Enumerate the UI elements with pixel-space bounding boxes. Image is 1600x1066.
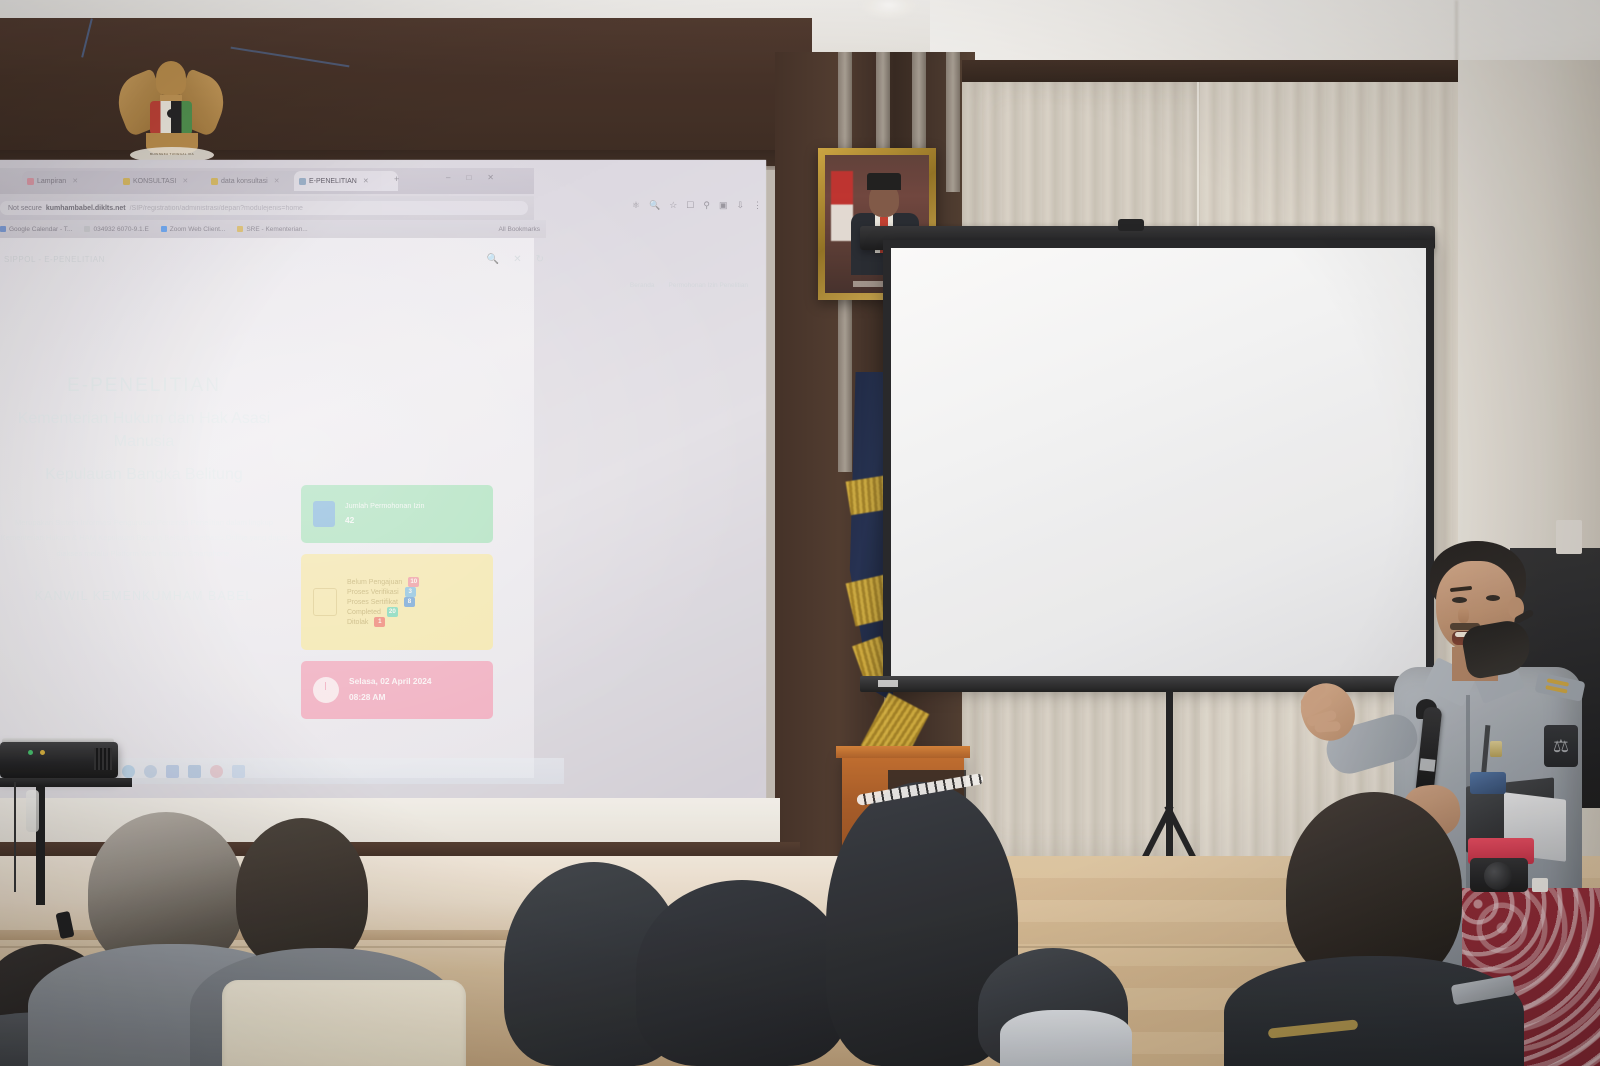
tab-favicon-icon: [299, 178, 306, 185]
status-row-4: Ditolak 1: [347, 617, 419, 627]
small-white-object: [1532, 878, 1548, 892]
tab-close-icon[interactable]: ✕: [274, 177, 280, 185]
bookmark-2[interactable]: Zoom Web Client...: [161, 226, 226, 233]
window-controls[interactable]: – □ ✕: [446, 173, 494, 182]
extensions-icon[interactable]: ⚲: [703, 200, 710, 211]
all-bookmarks-label: All Bookmarks: [498, 226, 540, 233]
status-label: Ditolak: [347, 619, 368, 626]
bookmark-label: Google Calendar - T...: [9, 226, 72, 233]
translate-icon[interactable]: ⚛: [632, 200, 640, 211]
bookmark-label: SRE - Kementerian...: [246, 226, 307, 233]
wall-plate: [1556, 520, 1582, 554]
browser-tab-3-active[interactable]: E-PENELITIAN ✕: [294, 171, 398, 191]
breadcrumb-item-1[interactable]: Permohonan Izin Penelitian: [669, 282, 749, 289]
document-icon: [313, 501, 335, 527]
tab-favicon-icon: [27, 178, 34, 185]
presenter-eye-right: [1486, 595, 1500, 601]
app-icon[interactable]: [232, 765, 245, 778]
hero-description: Merupakan Sistem Informasi Pengurusan Pe…: [0, 515, 294, 562]
close-window-icon[interactable]: ✕: [487, 173, 494, 182]
breadcrumb-item-0[interactable]: Beranda: [630, 282, 655, 289]
indonesia-flag-backdrop: [831, 171, 853, 241]
tab-close-icon[interactable]: ✕: [72, 177, 78, 185]
browser-toolbar-icons[interactable]: ⚛ 🔍 ☆ ☐ ⚲ ▣ ⇩ ⋮: [632, 200, 762, 211]
status-count: 20: [387, 607, 398, 617]
tab-label: E-PENELITIAN: [309, 178, 357, 185]
bookmark-3[interactable]: SRE - Kementerian...: [237, 226, 307, 233]
bookmark-favicon-icon: [0, 226, 6, 232]
outlook-icon[interactable]: [188, 765, 201, 778]
browser-address-bar: Not secure kumhambabel.diklts.net /SIP/r…: [0, 196, 534, 220]
tab-label: Lampiran: [37, 178, 66, 185]
wall-trim-strip-4: [946, 52, 960, 192]
camera-lens-icon: [1484, 862, 1512, 890]
status-count: 10: [408, 577, 419, 587]
hero-title: E-PENELITIAN: [0, 375, 294, 397]
bookmark-label: Zoom Web Client...: [170, 226, 226, 233]
share-icon[interactable]: ▣: [719, 200, 728, 211]
all-bookmarks-button[interactable]: All Bookmarks: [495, 226, 540, 233]
peci-cap-icon: [867, 173, 901, 190]
clipboard-icon: [313, 588, 337, 616]
tab-close-icon[interactable]: ✕: [182, 177, 188, 185]
ministry-shoulder-patch: ⚖: [1544, 725, 1578, 767]
status-row-2: Proses Sertifikat 8: [347, 597, 419, 607]
page-search-icon[interactable]: 🔍: [487, 254, 499, 265]
menu-icon[interactable]: ⋮: [753, 200, 762, 211]
bookmark-1[interactable]: 034932 6070-9.1.E: [84, 226, 148, 233]
audience-shoulders-7: [1224, 956, 1524, 1066]
tripod-projection-screen: [883, 240, 1434, 685]
monitor-screen: [1470, 772, 1506, 794]
address-path: /SIP/registration/administrasi/depan?mod…: [130, 205, 303, 212]
blind-top-beam: [962, 60, 1462, 82]
site-navbar: SIPPOL - E-PENELITIAN 🔍 ✕ ↻: [0, 248, 554, 270]
status-count: 8: [404, 597, 415, 607]
dashboard-cards: Jumlah Permohonan Izin 42 Belum Pengajua…: [301, 485, 493, 730]
photo-scene: BHINNEKA TUNGGAL IKA Lampiran ✕ KONSULTA…: [0, 0, 1600, 1066]
new-tab-button[interactable]: +: [394, 174, 399, 184]
presenter-eye-left: [1452, 597, 1467, 603]
card-clock[interactable]: Selasa, 02 April 2024 08:28 AM: [301, 661, 493, 719]
tab-label: KONSULTASI: [133, 178, 176, 185]
media-icon[interactable]: [210, 765, 223, 778]
hero-subtitle-line2: Kepulauan Bangka Belitung: [0, 463, 294, 486]
star-icon[interactable]: ☆: [669, 200, 677, 211]
edge-icon[interactable]: [122, 765, 135, 778]
clock-date: Selasa, 02 April 2024: [349, 674, 432, 690]
address-input[interactable]: Not secure kumhambabel.diklts.net /SIP/r…: [0, 201, 528, 215]
audience-shoulders-6: [1000, 1010, 1132, 1066]
projected-slide-surface: Lampiran ✕ KONSULTASI ✕ data konsultasi …: [0, 160, 766, 805]
projector-status-led-icon: [40, 750, 45, 755]
maximize-icon[interactable]: □: [466, 173, 471, 182]
card-text: Selasa, 02 April 2024 08:28 AM: [349, 674, 432, 706]
card-permohonan-izin[interactable]: Jumlah Permohonan Izin 42: [301, 485, 493, 543]
presenter-nose: [1458, 607, 1469, 623]
word-icon[interactable]: [166, 765, 179, 778]
clock-time: 08:28 AM: [349, 690, 432, 706]
status-label: Belum Pengajuan: [347, 579, 402, 586]
download-icon[interactable]: ⇩: [736, 200, 744, 211]
status-row-0: Belum Pengajuan 10: [347, 577, 419, 587]
browser-tab-0[interactable]: Lampiran ✕: [22, 171, 124, 191]
audience-head-2: [236, 818, 368, 970]
patch-emblem-icon: ⚖: [1553, 736, 1569, 757]
reading-list-icon[interactable]: ☐: [686, 200, 694, 211]
hero-subtitle-line1: Kementerian Hukum dan Hak Asasi Manusia: [0, 407, 294, 453]
clock-icon: [313, 677, 339, 703]
tab-favicon-icon: [123, 178, 130, 185]
status-count: 3: [405, 587, 416, 597]
card-text: Jumlah Permohonan Izin 42: [345, 499, 425, 529]
card-status-list[interactable]: Belum Pengajuan 10 Proses Verifikasi 3 P…: [301, 554, 493, 650]
status-rows: Belum Pengajuan 10 Proses Verifikasi 3 P…: [347, 577, 419, 627]
bookmarks-bar: Google Calendar - T... 034932 6070-9.1.E…: [0, 220, 546, 238]
screen-latch-icon[interactable]: [1118, 219, 1144, 231]
card-title: Jumlah Permohonan Izin: [345, 501, 425, 510]
audience-hijab-4: [636, 880, 848, 1066]
address-host: kumhambabel.diklts.net: [46, 205, 126, 212]
uniform-name-tag: [1490, 741, 1502, 757]
microphone-band: [1419, 758, 1435, 772]
status-label: Completed: [347, 609, 381, 616]
card-value: 42: [345, 513, 425, 529]
projector-vent: [94, 748, 112, 770]
screen-surface: [891, 248, 1426, 677]
podium-top: [836, 746, 970, 758]
bookmark-label: 034932 6070-9.1.E: [93, 226, 148, 233]
link-icon[interactable]: [144, 765, 157, 778]
projector-power-led-icon: [28, 750, 33, 755]
garuda-pancasila-emblem: BHINNEKA TUNGGAL IKA: [112, 55, 230, 163]
tab-favicon-icon: [211, 178, 218, 185]
projector-shelf: [0, 778, 132, 787]
audience-chair: [222, 980, 466, 1066]
projector-cable: [14, 782, 16, 892]
projector-hanging-tag: [26, 790, 39, 832]
bookmark-favicon-icon: [84, 226, 90, 232]
hero-organization: KANWIL KEMENKUMHAM BABEL: [0, 589, 294, 603]
screen-brand-label: [878, 680, 898, 687]
minimize-icon[interactable]: –: [446, 173, 450, 182]
page-tools[interactable]: 🔍 ✕ ↻: [487, 254, 544, 265]
not-secure-label: Not secure: [8, 205, 42, 212]
tab-label: data konsultasi: [221, 178, 268, 185]
page-close-icon[interactable]: ✕: [513, 254, 521, 265]
bookmark-favicon-icon: [237, 226, 243, 232]
bookmark-0[interactable]: Google Calendar - T...: [0, 226, 72, 233]
tab-close-icon[interactable]: ✕: [363, 177, 369, 185]
status-row-3: Completed 20: [347, 607, 419, 617]
status-label: Proses Verifikasi: [347, 589, 399, 596]
page-refresh-icon[interactable]: ↻: [536, 254, 544, 265]
breadcrumb: Beranda Permohonan Izin Penelitian: [630, 282, 748, 289]
status-count: 1: [374, 617, 385, 627]
bookmark-favicon-icon: [161, 226, 167, 232]
status-label: Proses Sertifikat: [347, 599, 398, 606]
search-icon[interactable]: 🔍: [649, 200, 660, 211]
hero-block: E-PENELITIAN Kementerian Hukum dan Hak A…: [0, 375, 294, 603]
site-brand: SIPPOL - E-PENELITIAN: [4, 255, 105, 264]
screen-bottom-bar: [860, 676, 1438, 692]
status-row-1: Proses Verifikasi 3: [347, 587, 419, 597]
